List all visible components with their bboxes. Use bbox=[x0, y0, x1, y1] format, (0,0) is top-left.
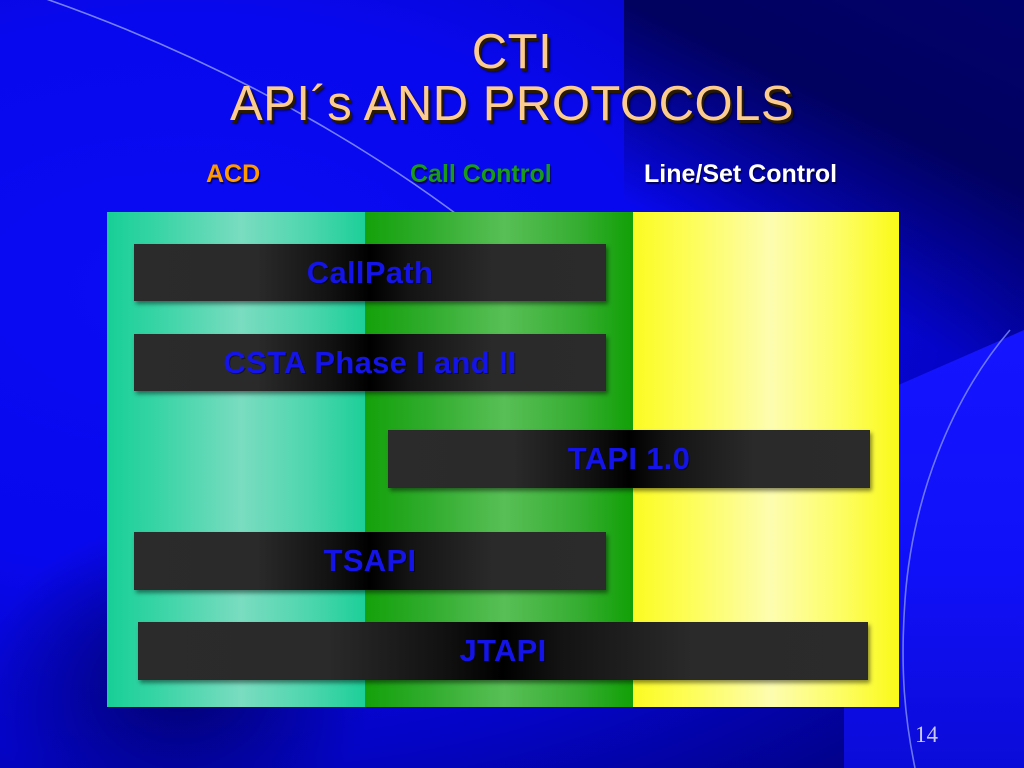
api-bar-callpath[interactable]: CallPath bbox=[134, 244, 606, 301]
api-bar-label: JTAPI bbox=[459, 633, 546, 669]
api-bar-label: TAPI 1.0 bbox=[568, 441, 690, 477]
api-bar-tapi[interactable]: TAPI 1.0 bbox=[388, 430, 870, 488]
api-bar-tsapi[interactable]: TSAPI bbox=[134, 532, 606, 590]
title-line-1: CTI bbox=[0, 26, 1024, 78]
api-bar-label: TSAPI bbox=[324, 543, 417, 579]
slide-canvas: CTI API´s AND PROTOCOLS ACD Call Control… bbox=[0, 0, 1024, 768]
api-bar-label: CallPath bbox=[307, 255, 433, 291]
page-number: 14 bbox=[915, 722, 938, 748]
column-header-call-control: Call Control bbox=[410, 160, 552, 189]
api-bar-jtapi[interactable]: JTAPI bbox=[138, 622, 868, 680]
column-headers: ACD Call Control Line/Set Control bbox=[107, 160, 907, 194]
page-title: CTI API´s AND PROTOCOLS bbox=[0, 26, 1024, 130]
api-bar-label: CSTA Phase I and II bbox=[223, 345, 516, 381]
api-bar-csta[interactable]: CSTA Phase I and II bbox=[134, 334, 606, 391]
diagram-panel: CallPath CSTA Phase I and II TAPI 1.0 TS… bbox=[107, 212, 899, 707]
title-line-2: API´s AND PROTOCOLS bbox=[0, 78, 1024, 130]
column-header-line-set-control: Line/Set Control bbox=[644, 160, 837, 189]
column-header-acd: ACD bbox=[206, 160, 260, 189]
